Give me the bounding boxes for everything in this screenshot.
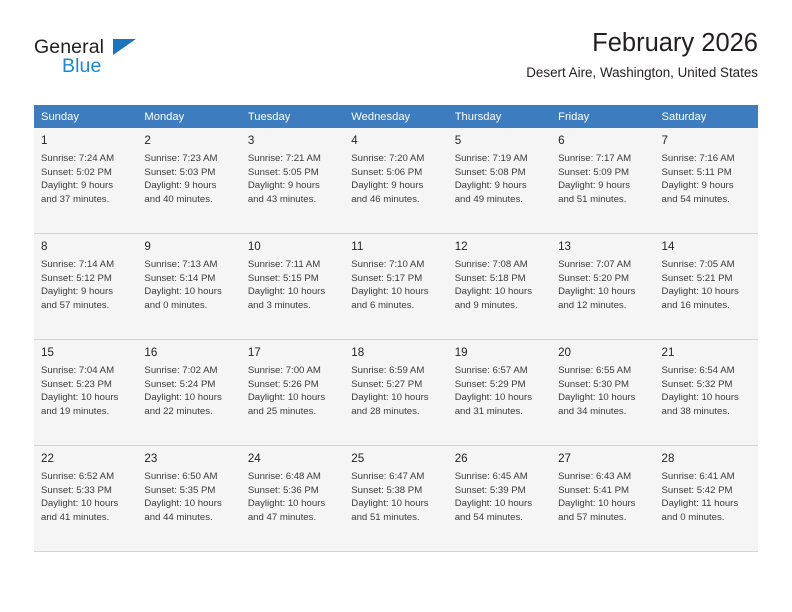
day-number: 7 <box>662 133 752 148</box>
day-number: 26 <box>455 451 545 466</box>
daylight-text: Daylight: 10 hours and 25 minutes. <box>248 391 338 418</box>
day-number: 3 <box>248 133 338 148</box>
daylight-text: Daylight: 10 hours and 6 minutes. <box>351 285 441 312</box>
weekday-header-wednesday: Wednesday <box>344 105 447 128</box>
day-cell[interactable]: 11 Sunrise: 7:10 AM Sunset: 5:17 PM Dayl… <box>344 234 447 340</box>
sunset-text: Sunset: 5:35 PM <box>144 484 234 498</box>
sunset-text: Sunset: 5:14 PM <box>144 272 234 286</box>
day-cell[interactable]: 27 Sunrise: 6:43 AM Sunset: 5:41 PM Dayl… <box>551 446 654 552</box>
page-title: February 2026 <box>526 28 758 58</box>
day-number: 21 <box>662 345 752 360</box>
sunrise-text: Sunrise: 6:48 AM <box>248 470 338 484</box>
day-number: 27 <box>558 451 648 466</box>
sunrise-text: Sunrise: 7:17 AM <box>558 152 648 166</box>
calendar-page: General Blue February 2026 Desert Aire, … <box>0 0 792 612</box>
sunset-text: Sunset: 5:38 PM <box>351 484 441 498</box>
sunrise-text: Sunrise: 7:13 AM <box>144 258 234 272</box>
day-cell[interactable]: 4 Sunrise: 7:20 AM Sunset: 5:06 PM Dayli… <box>344 128 447 234</box>
daylight-text: Daylight: 9 hours and 40 minutes. <box>144 179 234 206</box>
daylight-text: Daylight: 11 hours and 0 minutes. <box>662 497 752 524</box>
sunrise-text: Sunrise: 6:57 AM <box>455 364 545 378</box>
weekday-header-monday: Monday <box>137 105 240 128</box>
sunrise-text: Sunrise: 6:41 AM <box>662 470 752 484</box>
weekday-header-friday: Friday <box>551 105 654 128</box>
day-number: 28 <box>662 451 752 466</box>
week-row: 15 Sunrise: 7:04 AM Sunset: 5:23 PM Dayl… <box>34 340 758 446</box>
sunrise-text: Sunrise: 7:16 AM <box>662 152 752 166</box>
sunset-text: Sunset: 5:11 PM <box>662 166 752 180</box>
day-cell[interactable]: 26 Sunrise: 6:45 AM Sunset: 5:39 PM Dayl… <box>448 446 551 552</box>
sunrise-text: Sunrise: 6:45 AM <box>455 470 545 484</box>
day-cell[interactable]: 24 Sunrise: 6:48 AM Sunset: 5:36 PM Dayl… <box>241 446 344 552</box>
sunset-text: Sunset: 5:21 PM <box>662 272 752 286</box>
sunset-text: Sunset: 5:29 PM <box>455 378 545 392</box>
sunrise-text: Sunrise: 6:43 AM <box>558 470 648 484</box>
sunrise-text: Sunrise: 7:07 AM <box>558 258 648 272</box>
calendar-body: 1 Sunrise: 7:24 AM Sunset: 5:02 PM Dayli… <box>34 128 758 552</box>
sunset-text: Sunset: 5:33 PM <box>41 484 131 498</box>
sunrise-text: Sunrise: 6:52 AM <box>41 470 131 484</box>
day-number: 19 <box>455 345 545 360</box>
daylight-text: Daylight: 10 hours and 31 minutes. <box>455 391 545 418</box>
weekday-header-row: Sunday Monday Tuesday Wednesday Thursday… <box>34 105 758 128</box>
day-cell[interactable]: 21 Sunrise: 6:54 AM Sunset: 5:32 PM Dayl… <box>655 340 758 446</box>
day-number: 5 <box>455 133 545 148</box>
day-cell[interactable]: 9 Sunrise: 7:13 AM Sunset: 5:14 PM Dayli… <box>137 234 240 340</box>
day-cell[interactable]: 19 Sunrise: 6:57 AM Sunset: 5:29 PM Dayl… <box>448 340 551 446</box>
day-number: 13 <box>558 239 648 254</box>
weekday-header-sunday: Sunday <box>34 105 137 128</box>
sunset-text: Sunset: 5:03 PM <box>144 166 234 180</box>
day-cell[interactable]: 8 Sunrise: 7:14 AM Sunset: 5:12 PM Dayli… <box>34 234 137 340</box>
sunset-text: Sunset: 5:24 PM <box>144 378 234 392</box>
day-number: 14 <box>662 239 752 254</box>
sunset-text: Sunset: 5:05 PM <box>248 166 338 180</box>
day-cell[interactable]: 17 Sunrise: 7:00 AM Sunset: 5:26 PM Dayl… <box>241 340 344 446</box>
day-number: 9 <box>144 239 234 254</box>
day-cell[interactable]: 10 Sunrise: 7:11 AM Sunset: 5:15 PM Dayl… <box>241 234 344 340</box>
day-cell[interactable]: 7 Sunrise: 7:16 AM Sunset: 5:11 PM Dayli… <box>655 128 758 234</box>
day-cell[interactable]: 16 Sunrise: 7:02 AM Sunset: 5:24 PM Dayl… <box>137 340 240 446</box>
triangle-icon <box>113 39 136 55</box>
page-header: General Blue February 2026 Desert Aire, … <box>34 28 758 96</box>
daylight-text: Daylight: 10 hours and 9 minutes. <box>455 285 545 312</box>
day-number: 6 <box>558 133 648 148</box>
day-cell[interactable]: 2 Sunrise: 7:23 AM Sunset: 5:03 PM Dayli… <box>137 128 240 234</box>
title-block: February 2026 Desert Aire, Washington, U… <box>526 28 758 83</box>
daylight-text: Daylight: 10 hours and 16 minutes. <box>662 285 752 312</box>
day-number: 4 <box>351 133 441 148</box>
daylight-text: Daylight: 10 hours and 0 minutes. <box>144 285 234 312</box>
daylight-text: Daylight: 10 hours and 54 minutes. <box>455 497 545 524</box>
day-cell[interactable]: 20 Sunrise: 6:55 AM Sunset: 5:30 PM Dayl… <box>551 340 654 446</box>
sunset-text: Sunset: 5:02 PM <box>41 166 131 180</box>
day-cell[interactable]: 6 Sunrise: 7:17 AM Sunset: 5:09 PM Dayli… <box>551 128 654 234</box>
daylight-text: Daylight: 9 hours and 46 minutes. <box>351 179 441 206</box>
daylight-text: Daylight: 10 hours and 44 minutes. <box>144 497 234 524</box>
sunrise-text: Sunrise: 7:20 AM <box>351 152 441 166</box>
day-cell[interactable]: 25 Sunrise: 6:47 AM Sunset: 5:38 PM Dayl… <box>344 446 447 552</box>
sunrise-text: Sunrise: 7:23 AM <box>144 152 234 166</box>
sunset-text: Sunset: 5:15 PM <box>248 272 338 286</box>
sunset-text: Sunset: 5:27 PM <box>351 378 441 392</box>
day-cell[interactable]: 12 Sunrise: 7:08 AM Sunset: 5:18 PM Dayl… <box>448 234 551 340</box>
daylight-text: Daylight: 10 hours and 12 minutes. <box>558 285 648 312</box>
day-cell[interactable]: 3 Sunrise: 7:21 AM Sunset: 5:05 PM Dayli… <box>241 128 344 234</box>
day-number: 18 <box>351 345 441 360</box>
day-cell[interactable]: 13 Sunrise: 7:07 AM Sunset: 5:20 PM Dayl… <box>551 234 654 340</box>
sunrise-text: Sunrise: 7:08 AM <box>455 258 545 272</box>
daylight-text: Daylight: 9 hours and 49 minutes. <box>455 179 545 206</box>
daylight-text: Daylight: 10 hours and 34 minutes. <box>558 391 648 418</box>
daylight-text: Daylight: 10 hours and 28 minutes. <box>351 391 441 418</box>
sunrise-text: Sunrise: 7:00 AM <box>248 364 338 378</box>
sunrise-text: Sunrise: 6:54 AM <box>662 364 752 378</box>
day-cell[interactable]: 5 Sunrise: 7:19 AM Sunset: 5:08 PM Dayli… <box>448 128 551 234</box>
sunset-text: Sunset: 5:06 PM <box>351 166 441 180</box>
sunrise-text: Sunrise: 7:14 AM <box>41 258 131 272</box>
day-number: 25 <box>351 451 441 466</box>
day-number: 24 <box>248 451 338 466</box>
day-number: 22 <box>41 451 131 466</box>
sunrise-text: Sunrise: 6:47 AM <box>351 470 441 484</box>
sunset-text: Sunset: 5:09 PM <box>558 166 648 180</box>
day-number: 8 <box>41 239 131 254</box>
day-number: 11 <box>351 239 441 254</box>
logo-word-blue: Blue <box>62 55 101 78</box>
daylight-text: Daylight: 10 hours and 19 minutes. <box>41 391 131 418</box>
daylight-text: Daylight: 9 hours and 43 minutes. <box>248 179 338 206</box>
sunset-text: Sunset: 5:36 PM <box>248 484 338 498</box>
daylight-text: Daylight: 9 hours and 57 minutes. <box>41 285 131 312</box>
week-row: 22 Sunrise: 6:52 AM Sunset: 5:33 PM Dayl… <box>34 446 758 552</box>
weekday-header-saturday: Saturday <box>655 105 758 128</box>
daylight-text: Daylight: 9 hours and 51 minutes. <box>558 179 648 206</box>
week-row: 1 Sunrise: 7:24 AM Sunset: 5:02 PM Dayli… <box>34 128 758 234</box>
day-number: 2 <box>144 133 234 148</box>
day-number: 17 <box>248 345 338 360</box>
sunset-text: Sunset: 5:41 PM <box>558 484 648 498</box>
daylight-text: Daylight: 9 hours and 54 minutes. <box>662 179 752 206</box>
sunrise-text: Sunrise: 7:05 AM <box>662 258 752 272</box>
day-number: 12 <box>455 239 545 254</box>
sunrise-text: Sunrise: 7:21 AM <box>248 152 338 166</box>
sunset-text: Sunset: 5:42 PM <box>662 484 752 498</box>
daylight-text: Daylight: 10 hours and 38 minutes. <box>662 391 752 418</box>
daylight-text: Daylight: 10 hours and 51 minutes. <box>351 497 441 524</box>
sunrise-text: Sunrise: 7:02 AM <box>144 364 234 378</box>
day-number: 10 <box>248 239 338 254</box>
sunrise-text: Sunrise: 7:04 AM <box>41 364 131 378</box>
general-blue-logo[interactable]: General Blue <box>34 36 184 84</box>
daylight-text: Daylight: 10 hours and 3 minutes. <box>248 285 338 312</box>
sunset-text: Sunset: 5:20 PM <box>558 272 648 286</box>
weekday-header-thursday: Thursday <box>448 105 551 128</box>
weekday-header-tuesday: Tuesday <box>241 105 344 128</box>
sunset-text: Sunset: 5:23 PM <box>41 378 131 392</box>
day-cell[interactable]: 22 Sunrise: 6:52 AM Sunset: 5:33 PM Dayl… <box>34 446 137 552</box>
sunrise-text: Sunrise: 7:19 AM <box>455 152 545 166</box>
sunset-text: Sunset: 5:30 PM <box>558 378 648 392</box>
sunrise-text: Sunrise: 7:11 AM <box>248 258 338 272</box>
day-number: 15 <box>41 345 131 360</box>
day-cell[interactable]: 18 Sunrise: 6:59 AM Sunset: 5:27 PM Dayl… <box>344 340 447 446</box>
sunset-text: Sunset: 5:17 PM <box>351 272 441 286</box>
sunrise-text: Sunrise: 7:10 AM <box>351 258 441 272</box>
sunset-text: Sunset: 5:12 PM <box>41 272 131 286</box>
week-row: 8 Sunrise: 7:14 AM Sunset: 5:12 PM Dayli… <box>34 234 758 340</box>
day-cell[interactable]: 1 Sunrise: 7:24 AM Sunset: 5:02 PM Dayli… <box>34 128 137 234</box>
day-number: 16 <box>144 345 234 360</box>
sunrise-text: Sunrise: 7:24 AM <box>41 152 131 166</box>
day-cell[interactable]: 14 Sunrise: 7:05 AM Sunset: 5:21 PM Dayl… <box>655 234 758 340</box>
day-cell[interactable]: 23 Sunrise: 6:50 AM Sunset: 5:35 PM Dayl… <box>137 446 240 552</box>
sunset-text: Sunset: 5:18 PM <box>455 272 545 286</box>
sunset-text: Sunset: 5:39 PM <box>455 484 545 498</box>
day-cell[interactable]: 28 Sunrise: 6:41 AM Sunset: 5:42 PM Dayl… <box>655 446 758 552</box>
daylight-text: Daylight: 10 hours and 47 minutes. <box>248 497 338 524</box>
sunrise-text: Sunrise: 6:50 AM <box>144 470 234 484</box>
day-number: 20 <box>558 345 648 360</box>
daylight-text: Daylight: 10 hours and 57 minutes. <box>558 497 648 524</box>
day-cell[interactable]: 15 Sunrise: 7:04 AM Sunset: 5:23 PM Dayl… <box>34 340 137 446</box>
sunrise-sunset-calendar: Sunday Monday Tuesday Wednesday Thursday… <box>34 105 758 552</box>
sunset-text: Sunset: 5:32 PM <box>662 378 752 392</box>
daylight-text: Daylight: 9 hours and 37 minutes. <box>41 179 131 206</box>
daylight-text: Daylight: 10 hours and 41 minutes. <box>41 497 131 524</box>
page-subtitle: Desert Aire, Washington, United States <box>526 63 758 83</box>
day-number: 1 <box>41 133 131 148</box>
sunrise-text: Sunrise: 6:55 AM <box>558 364 648 378</box>
daylight-text: Daylight: 10 hours and 22 minutes. <box>144 391 234 418</box>
sunset-text: Sunset: 5:08 PM <box>455 166 545 180</box>
sunrise-text: Sunrise: 6:59 AM <box>351 364 441 378</box>
sunset-text: Sunset: 5:26 PM <box>248 378 338 392</box>
day-number: 23 <box>144 451 234 466</box>
